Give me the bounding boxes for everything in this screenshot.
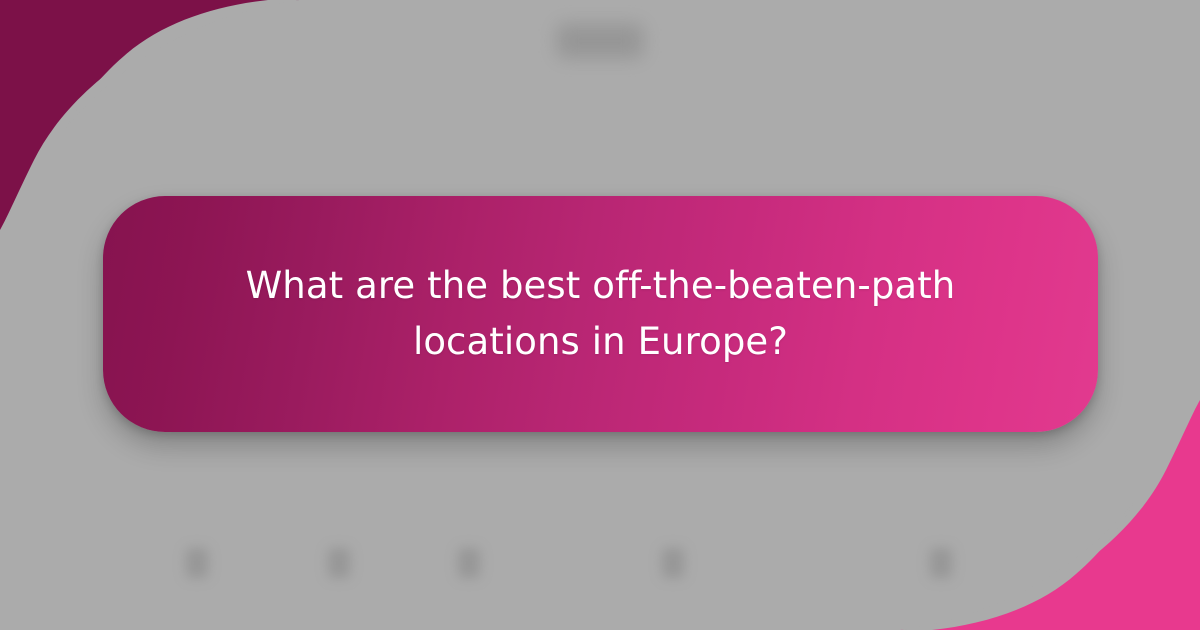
social-icon-1[interactable] — [186, 548, 208, 578]
question-card-surface: What are the best off-the-beaten-path lo… — [103, 196, 1098, 432]
social-icon-row — [0, 548, 1200, 592]
site-logo[interactable] — [557, 24, 643, 58]
question-card[interactable]: What are the best off-the-beaten-path lo… — [103, 196, 1098, 432]
social-icon-4[interactable] — [662, 548, 684, 578]
question-text: What are the best off-the-beaten-path lo… — [246, 258, 956, 370]
social-icon-5[interactable] — [930, 548, 952, 578]
social-icon-2[interactable] — [328, 548, 350, 578]
page-root: What are the best off-the-beaten-path lo… — [0, 0, 1200, 630]
social-icon-3[interactable] — [458, 548, 480, 578]
corner-swoosh-bottom-right — [900, 400, 1200, 630]
